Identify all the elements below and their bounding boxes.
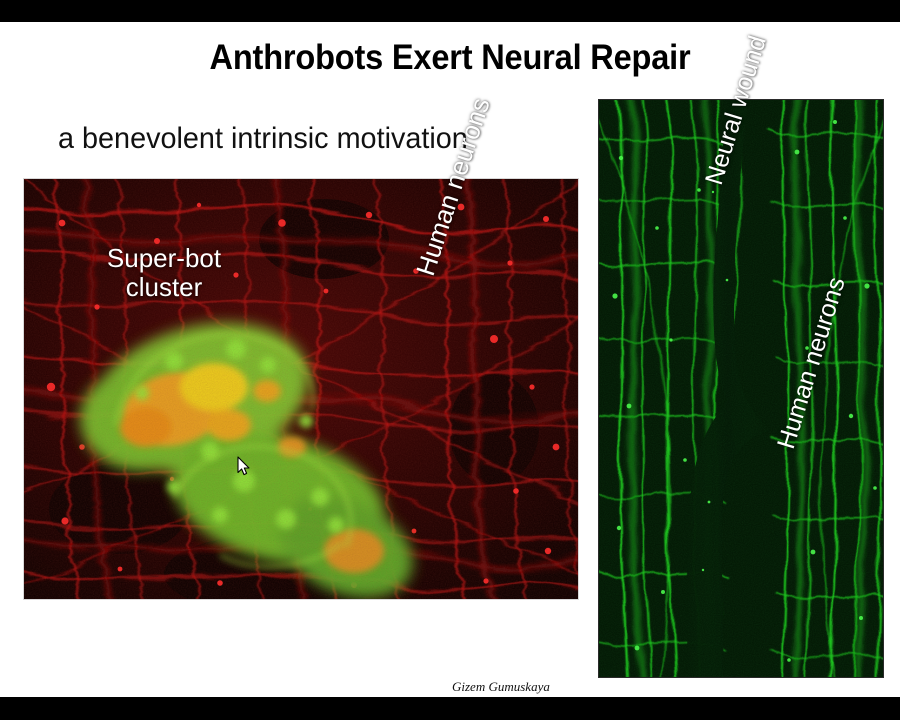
- left-micrograph-panel: [23, 178, 579, 600]
- slide-subtitle: a benevolent intrinsic motivation: [58, 122, 468, 156]
- letterbox-bottom-bar: [0, 697, 900, 720]
- slide-canvas: Anthrobots Exert Neural Repair a benevol…: [0, 22, 900, 697]
- slide-frame: Anthrobots Exert Neural Repair a benevol…: [0, 0, 900, 720]
- page-title: Anthrobots Exert Neural Repair: [32, 38, 869, 78]
- right-micrograph-panel: [598, 99, 884, 678]
- right-micrograph-image: [599, 100, 883, 677]
- credit-attribution: Gizem Gumuskaya: [452, 679, 550, 695]
- left-micrograph-image: [24, 179, 578, 599]
- letterbox-top-bar: [0, 0, 900, 22]
